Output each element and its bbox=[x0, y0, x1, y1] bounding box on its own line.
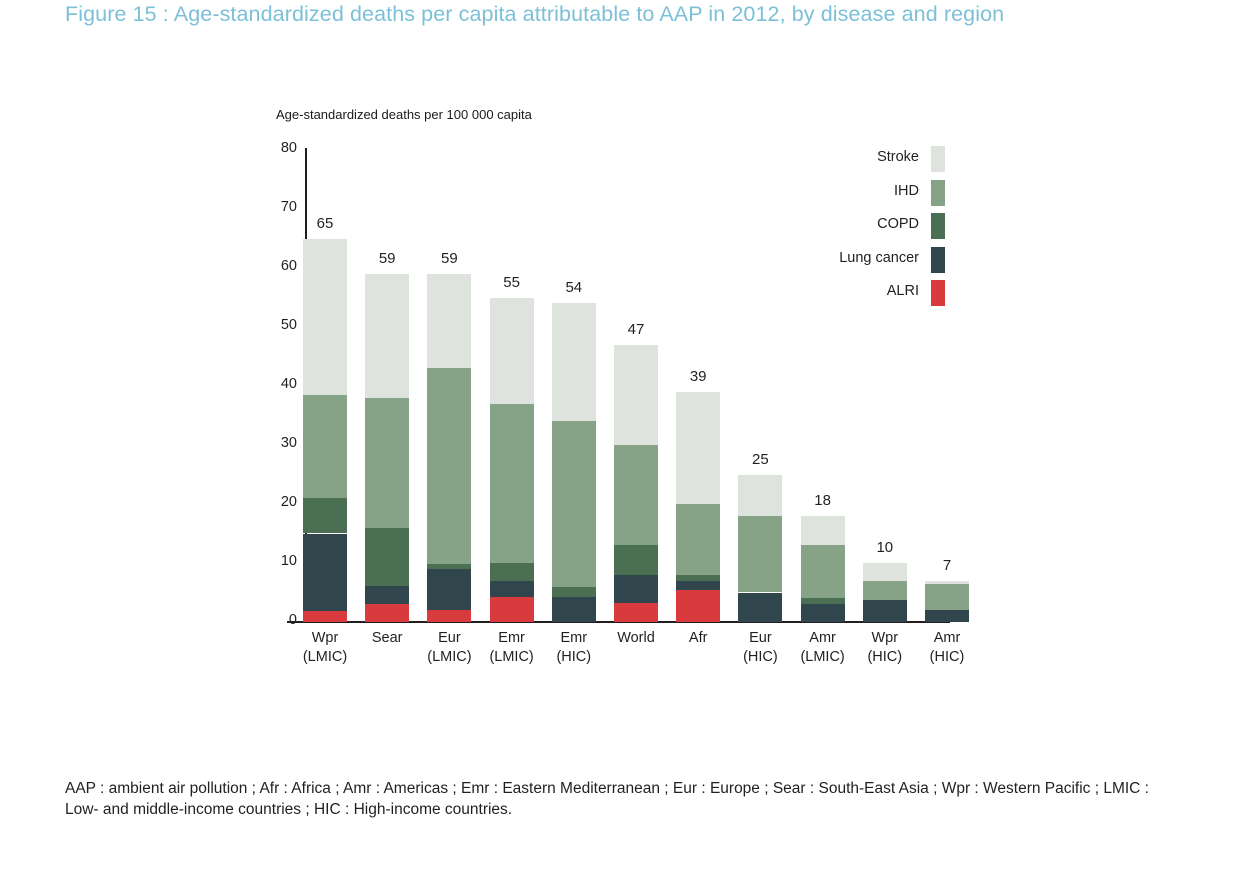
x-axis-tick-label-line1: Eur bbox=[749, 630, 772, 646]
bar-segment-lung-cancer[interactable] bbox=[801, 604, 845, 622]
bar-value-label: 59 bbox=[365, 250, 409, 267]
bar-segment-copd[interactable] bbox=[303, 498, 347, 533]
bar-segment-ihd[interactable] bbox=[738, 516, 782, 593]
bar-segment-stroke[interactable] bbox=[925, 581, 969, 584]
bar-segment-stroke[interactable] bbox=[490, 298, 534, 404]
bar-segment-ihd[interactable] bbox=[801, 545, 845, 598]
bar-segment-copd[interactable] bbox=[614, 545, 658, 575]
bar-segment-ihd[interactable] bbox=[490, 404, 534, 563]
x-axis-tick-label-line1: Wpr bbox=[312, 630, 339, 646]
bar-segment-copd[interactable] bbox=[801, 598, 845, 604]
bar-segment-stroke[interactable] bbox=[552, 303, 596, 421]
y-axis-tick-20: 20 bbox=[281, 494, 297, 510]
x-axis-tick-label-line2: (LMIC) bbox=[285, 648, 365, 667]
bar-segment-stroke[interactable] bbox=[738, 475, 782, 516]
y-axis-tick-30: 30 bbox=[281, 435, 297, 451]
bar-segment-alri[interactable] bbox=[490, 597, 534, 622]
bar-segment-lung-cancer[interactable] bbox=[303, 534, 347, 612]
y-axis-tick-labels: 01020304050607080 bbox=[255, 0, 297, 700]
bar-group[interactable]: 18 bbox=[801, 0, 845, 622]
bar-segment-copd[interactable] bbox=[552, 587, 596, 598]
bar-group[interactable]: 59 bbox=[365, 0, 409, 622]
bar-segment-stroke[interactable] bbox=[614, 345, 658, 445]
bar-segment-copd[interactable] bbox=[365, 528, 409, 586]
bar-segment-ihd[interactable] bbox=[614, 445, 658, 545]
bar-segment-lung-cancer[interactable] bbox=[427, 569, 471, 610]
bar-segment-lung-cancer[interactable] bbox=[863, 600, 907, 622]
y-axis-tick-50: 50 bbox=[281, 317, 297, 333]
bar-segment-stroke[interactable] bbox=[303, 239, 347, 396]
bar-segment-stroke[interactable] bbox=[365, 274, 409, 398]
x-axis-tick-label: Amr(HIC) bbox=[907, 629, 987, 667]
y-axis-tick-0: 0 bbox=[289, 612, 297, 628]
bar-value-label: 47 bbox=[614, 321, 658, 338]
bar-segment-lung-cancer[interactable] bbox=[676, 581, 720, 590]
chart-canvas: Age-standardized deaths per 100 000 capi… bbox=[0, 0, 1234, 700]
bar-segment-ihd[interactable] bbox=[863, 581, 907, 600]
bar-value-label: 7 bbox=[925, 557, 969, 574]
bar-segment-lung-cancer[interactable] bbox=[614, 575, 658, 603]
bar-segment-ihd[interactable] bbox=[427, 368, 471, 564]
bar-group[interactable]: 39 bbox=[676, 0, 720, 622]
bar-segment-alri[interactable] bbox=[427, 610, 471, 622]
bar-group[interactable]: 55 bbox=[490, 0, 534, 622]
bar-segment-stroke[interactable] bbox=[863, 563, 907, 581]
bar-segment-ihd[interactable] bbox=[925, 584, 969, 611]
y-axis-tick-40: 40 bbox=[281, 376, 297, 392]
bar-value-label: 55 bbox=[490, 274, 534, 291]
x-axis-tick-label-line1: Emr bbox=[498, 630, 525, 646]
bar-segment-copd[interactable] bbox=[427, 564, 471, 569]
figure-footnote: AAP : ambient air pollution ; Afr : Afri… bbox=[65, 778, 1170, 820]
bar-value-label: 65 bbox=[303, 215, 347, 232]
bar-segment-lung-cancer[interactable] bbox=[925, 610, 969, 622]
bar-group[interactable]: 10 bbox=[863, 0, 907, 622]
bar-group[interactable]: 7 bbox=[925, 0, 969, 622]
x-axis-tick-label-line1: Afr bbox=[689, 630, 708, 646]
x-axis-tick-label-line1: Emr bbox=[561, 630, 588, 646]
bar-segment-lung-cancer[interactable] bbox=[738, 593, 782, 623]
bar-group[interactable]: 47 bbox=[614, 0, 658, 622]
bar-segment-ihd[interactable] bbox=[676, 504, 720, 575]
bar-value-label: 59 bbox=[427, 250, 471, 267]
bar-segment-copd[interactable] bbox=[676, 575, 720, 581]
bar-group[interactable]: 65 bbox=[303, 0, 347, 622]
x-axis-tick-label-line1: Sear bbox=[372, 630, 403, 646]
bar-value-label: 18 bbox=[801, 492, 845, 509]
x-axis-tick-label-line1: Amr bbox=[809, 630, 836, 646]
bar-segment-stroke[interactable] bbox=[801, 516, 845, 546]
bar-group[interactable]: 54 bbox=[552, 0, 596, 622]
y-axis-tick-60: 60 bbox=[281, 258, 297, 274]
bar-segment-ihd[interactable] bbox=[303, 395, 347, 498]
bar-segment-lung-cancer[interactable] bbox=[490, 581, 534, 598]
bar-group[interactable]: 25 bbox=[738, 0, 782, 622]
bar-segment-stroke[interactable] bbox=[676, 392, 720, 504]
bar-segment-ihd[interactable] bbox=[365, 398, 409, 528]
bar-segment-ihd[interactable] bbox=[552, 421, 596, 586]
bar-value-label: 54 bbox=[552, 279, 596, 296]
y-axis-tick-70: 70 bbox=[281, 199, 297, 215]
x-axis-tick-label-line1: Amr bbox=[934, 630, 961, 646]
bar-segment-alri[interactable] bbox=[614, 603, 658, 622]
bar-segment-copd[interactable] bbox=[490, 563, 534, 581]
bar-segment-alri[interactable] bbox=[365, 604, 409, 622]
bar-segment-stroke[interactable] bbox=[427, 274, 471, 368]
x-axis-tick-label-line1: Wpr bbox=[872, 630, 899, 646]
y-axis-tick-80: 80 bbox=[281, 140, 297, 156]
x-axis-tick-label-line2: (HIC) bbox=[907, 648, 987, 667]
bar-value-label: 25 bbox=[738, 451, 782, 468]
bar-segment-alri[interactable] bbox=[303, 611, 347, 622]
bar-segment-lung-cancer[interactable] bbox=[365, 586, 409, 604]
x-axis-tick-label-line2: (HIC) bbox=[534, 648, 614, 667]
bar-group[interactable]: 59 bbox=[427, 0, 471, 622]
x-axis-tick-label-line1: World bbox=[617, 630, 655, 646]
bar-segment-lung-cancer[interactable] bbox=[552, 597, 596, 622]
x-axis-tick-label-line1: Eur bbox=[438, 630, 461, 646]
bar-value-label: 10 bbox=[863, 539, 907, 556]
bar-value-label: 39 bbox=[676, 368, 720, 385]
y-axis-tick-10: 10 bbox=[281, 553, 297, 569]
bar-segment-alri[interactable] bbox=[676, 590, 720, 622]
